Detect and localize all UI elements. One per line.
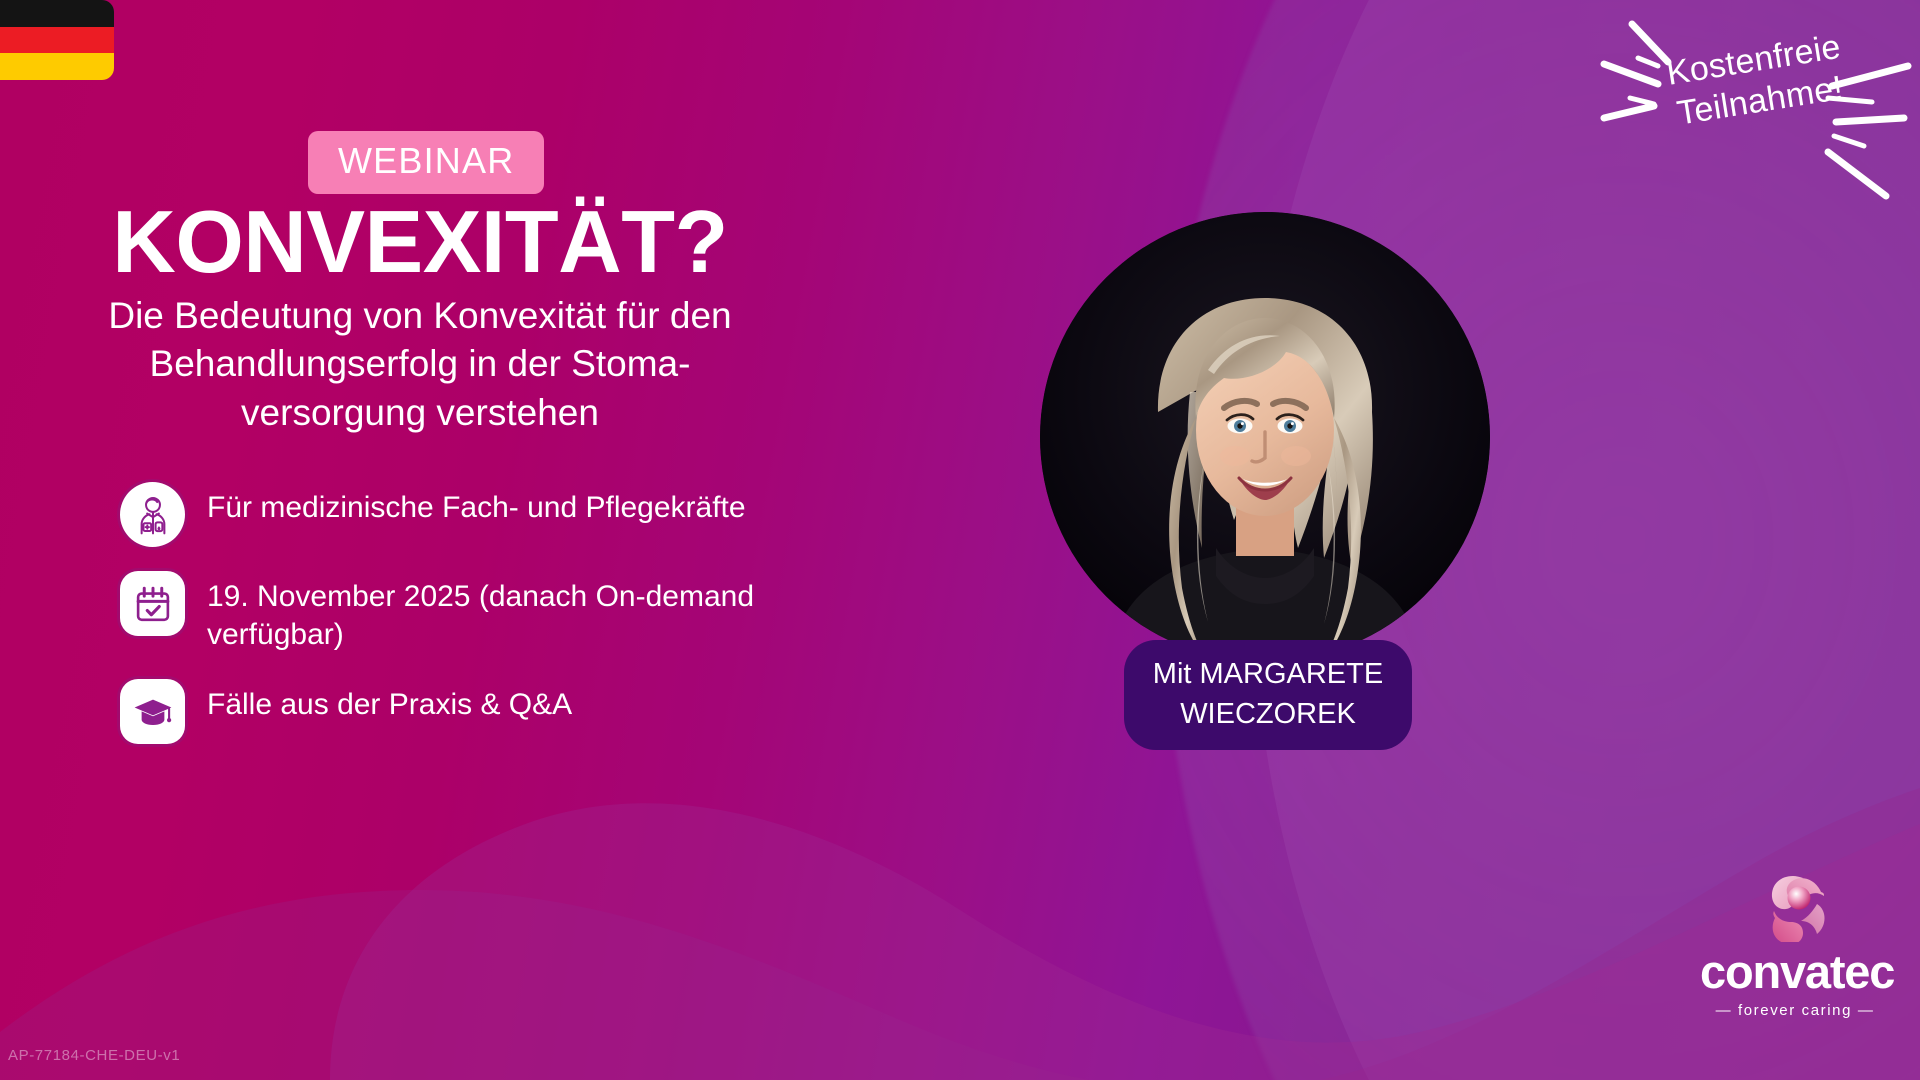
webinar-promo-banner: Kostenfreie Teilnahme! WEBINAR KONVEXITÄ… (0, 0, 1920, 1080)
detail-list: Für medizinische Fach- und Pflegekräfte … (120, 482, 860, 768)
list-item-label: 19. November 2025 (danach On-demand verf… (207, 571, 827, 655)
speaker-portrait-wrapper (1040, 212, 1490, 662)
doctor-icon (120, 482, 185, 547)
list-item: Für medizinische Fach- und Pflegekräfte (120, 482, 860, 547)
subtitle-line-1: Die Bedeutung von Konvexität für den (60, 292, 780, 340)
speaker-badge-line-1: Mit MARGARETE (1153, 658, 1383, 690)
left-content-column: WEBINAR KONVEXITÄT? Die Bedeutung von Ko… (0, 0, 860, 1080)
graduation-cap-icon (120, 679, 185, 744)
subtitle-line-3: versorgung verstehen (60, 389, 780, 437)
speaker-portrait (1040, 212, 1490, 662)
logo-wordmark: convatec (1700, 948, 1890, 995)
logo-tagline: — forever caring — (1700, 1002, 1890, 1019)
page-subtitle: Die Bedeutung von Konvexität für den Beh… (60, 292, 780, 437)
page-title: KONVEXITÄT? (0, 198, 840, 286)
asset-code: AP-77184-CHE-DEU-v1 (8, 1047, 180, 1064)
speaker-name-badge: Mit MARGARETE WIECZOREK (1124, 640, 1412, 750)
convatec-flower-icon (1759, 870, 1831, 942)
webinar-pill-badge: WEBINAR (308, 131, 544, 194)
list-item-label: Fälle aus der Praxis & Q&A (207, 679, 572, 724)
speaker-badge-line-2: WIECZOREK (1136, 694, 1400, 734)
convatec-logo: convatec — forever caring — (1700, 870, 1890, 1019)
subtitle-line-2: Behandlungserfolg in der Stoma- (60, 340, 780, 388)
avatar (1040, 212, 1490, 662)
free-participation-burst: Kostenfreie Teilnahme! (1596, 6, 1916, 216)
list-item: Fälle aus der Praxis & Q&A (120, 679, 860, 744)
list-item: 19. November 2025 (danach On-demand verf… (120, 571, 860, 655)
calendar-check-icon (120, 571, 185, 636)
list-item-label: Für medizinische Fach- und Pflegekräfte (207, 482, 746, 527)
